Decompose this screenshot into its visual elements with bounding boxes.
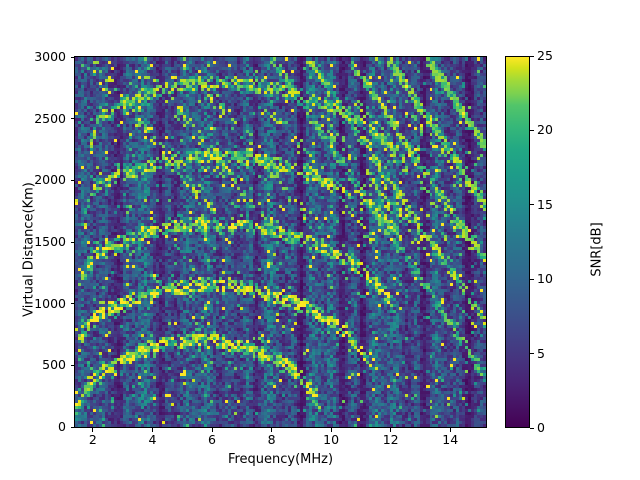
- x-tick-mark: [212, 428, 213, 432]
- y-tick-mark: [71, 365, 75, 366]
- y-tick-mark: [71, 242, 75, 243]
- colorbar-tick-mark: [530, 130, 534, 131]
- colorbar-tick-mark: [530, 56, 534, 57]
- y-tick-label: 0: [4, 421, 66, 434]
- y-tick-mark: [71, 303, 75, 304]
- colorbar-tick-mark: [530, 279, 534, 280]
- x-axis-label: Frequency(MHz): [74, 452, 487, 467]
- colorbar-tick-label: 20: [537, 124, 577, 137]
- y-tick-mark: [71, 118, 75, 119]
- x-tick-mark: [390, 428, 391, 432]
- y-tick-label: 2500: [4, 113, 66, 126]
- colorbar-tick-label: 15: [537, 199, 577, 212]
- x-tick-label: 10: [311, 434, 351, 447]
- colorbar-tick-mark: [530, 204, 534, 205]
- colorbar-label: SNR[dB]: [590, 140, 605, 360]
- colorbar-tick-mark: [530, 428, 534, 429]
- y-tick-label: 3000: [4, 51, 66, 64]
- x-tick-mark: [271, 428, 272, 432]
- x-tick-mark: [450, 428, 451, 432]
- x-tick-label: 4: [132, 434, 172, 447]
- y-tick-mark: [71, 180, 75, 181]
- y-tick-mark: [71, 427, 75, 428]
- x-tick-label: 6: [192, 434, 232, 447]
- x-tick-mark: [152, 428, 153, 432]
- x-tick-mark: [92, 428, 93, 432]
- ionogram-plot-area: [74, 56, 487, 428]
- colorbar-tick-mark: [530, 353, 534, 354]
- colorbar-tick-label: 10: [537, 273, 577, 286]
- x-tick-label: 14: [430, 434, 470, 447]
- ionogram-figure: Ionogram Jicamarca-Ayacucho Polarization…: [0, 0, 640, 480]
- x-tick-label: 12: [371, 434, 411, 447]
- colorbar-gradient: [505, 56, 530, 428]
- ionogram-heatmap: [75, 57, 486, 427]
- y-axis-label: Virtual Distance(Km): [22, 140, 37, 360]
- x-tick-label: 8: [252, 434, 292, 447]
- x-tick-label: 2: [73, 434, 113, 447]
- y-tick-mark: [71, 57, 75, 58]
- y-tick-label: 500: [4, 359, 66, 372]
- colorbar-tick-label: 0: [537, 422, 577, 435]
- x-tick-mark: [331, 428, 332, 432]
- colorbar-tick-label: 25: [537, 50, 577, 63]
- colorbar-tick-label: 5: [537, 348, 577, 361]
